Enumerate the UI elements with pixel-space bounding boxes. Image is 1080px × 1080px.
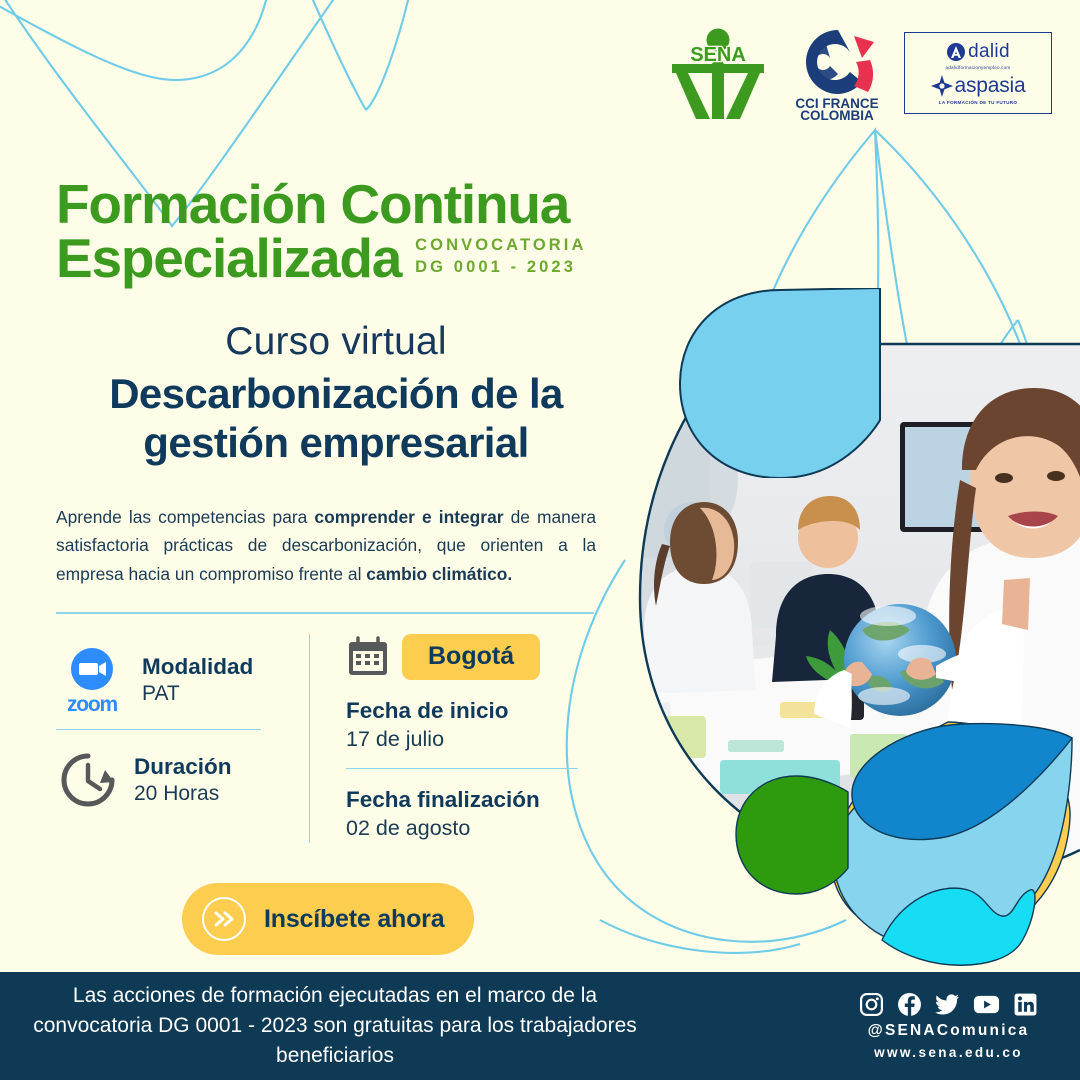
details-column-left: zoom Modalidad PAT Duración 20 Horas [56,634,309,843]
register-button-label: Inscíbete ahora [264,905,444,934]
clock-icon [56,748,120,812]
adalid-tagline: adalidformacionyempleo.com [946,65,1011,70]
instagram-icon[interactable] [859,992,884,1017]
footer-social-block: @SENAComunica www.sena.edu.co [859,992,1080,1060]
course-title-line2: gestión empresarial [56,419,616,468]
aspasia-star-icon [931,75,953,97]
section-divider [56,612,594,614]
desc-part1: Aprende las competencias para [56,507,314,527]
register-button[interactable]: Inscíbete ahora [182,883,474,955]
zoom-camera-icon [69,646,115,692]
course-description: Aprende las competencias para comprender… [56,503,596,588]
linkedin-icon[interactable] [1013,992,1038,1017]
twitter-icon[interactable] [935,992,960,1017]
right-separator [346,768,578,769]
course-details: zoom Modalidad PAT Duración 20 Horas [56,634,601,843]
duration-item: Duración 20 Horas [56,730,291,812]
zoom-wordmark: zoom [67,694,117,715]
double-chevron-right-icon [202,897,246,941]
headline-block: Formación Continua Especializada CONVOCA… [56,178,656,588]
convocatoria-line2: DG 0001 - 2023 [415,258,576,276]
footer-disclaimer: Las acciones de formación ejecutadas en … [0,981,640,1070]
course-title-line1: Descarbonización de la [56,370,616,419]
social-icons [859,992,1038,1017]
sena-logo-text: SENA [690,44,746,66]
duration-value: 20 Horas [134,780,232,807]
poster-root: SENA CCI FRANCE COLOMBIA dalid adalidfor… [0,0,1080,1080]
program-title-line1: Formación Continua [56,178,656,232]
desc-bold2: cambio climático. [366,564,512,584]
end-date-label: Fecha finalización [346,786,577,814]
desc-bold1: comprender e integrar [314,507,503,527]
footer: Las acciones de formación ejecutadas en … [0,972,1080,1080]
zoom-logo: zoom [56,646,128,715]
program-title-line2: Especializada [56,232,401,286]
aspasia-wordmark: aspasia [955,75,1026,96]
convocatoria-label: CONVOCATORIA DG 0001 - 2023 [415,235,586,286]
cci-line2: COLOMBIA [800,108,874,122]
modality-value: PAT [142,680,253,707]
course-kicker: Curso virtual [56,320,616,364]
convocatoria-line1: CONVOCATORIA [415,236,586,254]
program-title: Formación Continua Especializada CONVOCA… [56,178,656,286]
start-date-item: Fecha de inicio 17 de julio [346,697,577,754]
youtube-icon[interactable] [973,992,1000,1017]
end-date-item: Fecha finalización 02 de agosto [346,786,577,843]
blue-teardrop-shape [672,288,892,478]
adalid-mark-icon [946,42,966,62]
website-url: www.sena.edu.co [874,1045,1023,1060]
city-row: Bogotá [346,634,577,680]
end-date-value: 02 de agosto [346,814,577,843]
adalid-wordmark: dalid [968,42,1010,61]
cci-france-colombia-logo: CCI FRANCE COLOMBIA [792,24,882,122]
modality-item: zoom Modalidad PAT [56,634,291,729]
city-badge: Bogotá [402,634,540,680]
facebook-icon[interactable] [897,992,922,1017]
modality-label: Modalidad [142,653,253,680]
partner-logos: SENA CCI FRANCE COLOMBIA dalid adalidfor… [666,24,1052,122]
course-title: Descarbonización de la gestión empresari… [56,370,616,467]
social-handle: @SENAComunica [868,1022,1030,1040]
partner-logo-box: dalid adalidformacionyempleo.com aspasia… [904,32,1052,114]
duration-label: Duración [134,753,232,780]
calendar-icon [346,635,390,679]
bottom-leaf-cluster [690,700,1080,980]
details-column-right: Bogotá Fecha de inicio 17 de julio Fecha… [309,634,577,843]
aspasia-logo: aspasia [931,75,1026,97]
adalid-logo: dalid [946,42,1010,62]
start-date-label: Fecha de inicio [346,697,577,725]
aspasia-tagline: LA FORMACIÓN DE TU FUTURO [939,100,1018,105]
sena-logo: SENA [666,27,770,119]
start-date-value: 17 de julio [346,725,577,754]
